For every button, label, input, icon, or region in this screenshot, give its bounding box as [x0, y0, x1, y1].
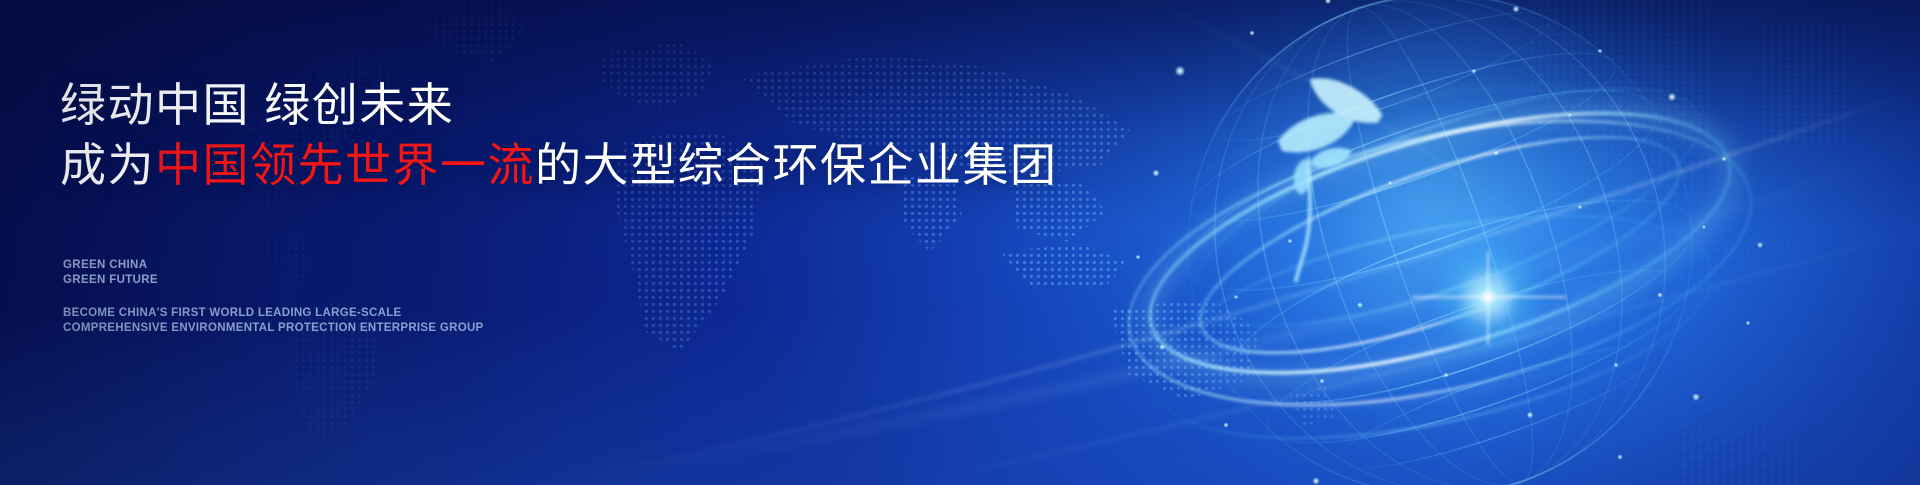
tagline-english: BECOME CHINA'S FIRST WORLD LEADING LARGE… [63, 306, 484, 335]
headline-line-2: 成为中国领先世界一流的大型综合环保企业集团 [60, 136, 1058, 196]
tagline-line-2: COMPREHENSIVE ENVIRONMENTAL PROTECTION E… [63, 321, 484, 336]
headline-line2-suffix: 的大型综合环保企业集团 [535, 139, 1058, 191]
slogan-english: GREEN CHINA GREEN FUTURE [63, 258, 158, 288]
headline-highlight: 中国领先世界一流 [155, 139, 535, 191]
headline-line-1: 绿动中国 绿创未来 [60, 79, 454, 131]
hero-banner: 绿动中国 绿创未来 成为中国领先世界一流的大型综合环保企业集团 GREEN CH… [0, 0, 1920, 485]
banner-copy: 绿动中国 绿创未来 成为中国领先世界一流的大型综合环保企业集团 GREEN CH… [60, 0, 1060, 485]
page-title: 绿动中国 绿创未来 成为中国领先世界一流的大型综合环保企业集团 [60, 76, 1058, 196]
headline-line2-prefix: 成为 [60, 139, 155, 191]
slogan-line-2: GREEN FUTURE [63, 273, 158, 288]
tagline-line-1: BECOME CHINA'S FIRST WORLD LEADING LARGE… [63, 306, 484, 321]
slogan-line-1: GREEN CHINA [63, 258, 158, 273]
